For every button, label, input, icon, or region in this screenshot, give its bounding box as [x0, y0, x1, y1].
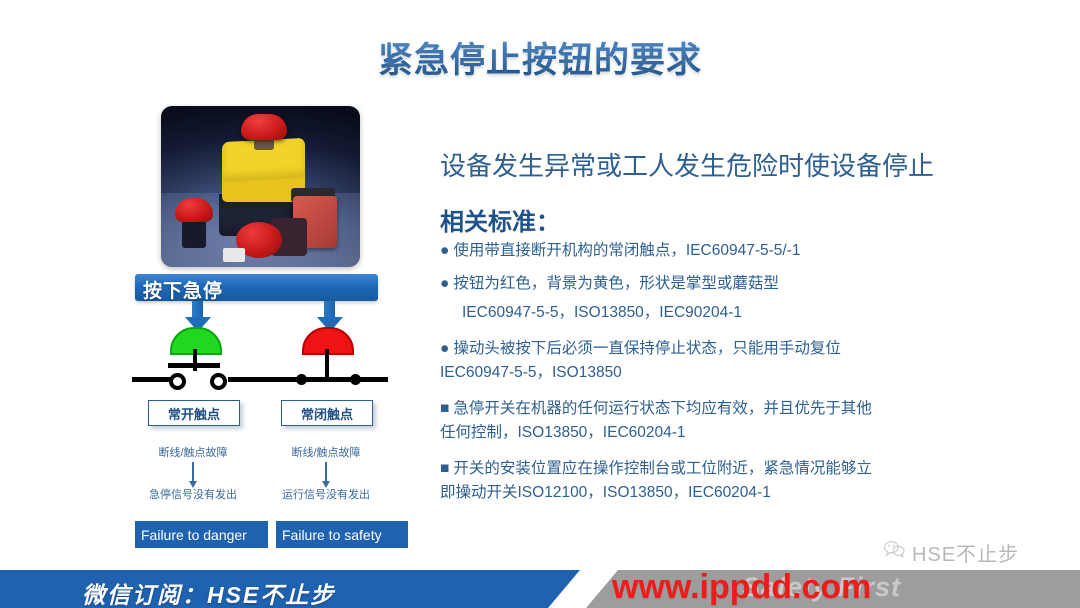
- bullet-item: ●操动头被按下后必须一直保持停止状态，只能用手动复位: [440, 338, 1060, 360]
- bullet-item: ●按钮为红色，背景为黄色，形状是掌型或蘑菇型: [440, 273, 1060, 295]
- nc-contact-stem: [325, 349, 329, 377]
- bullet-marker: ■: [440, 398, 449, 420]
- press-estop-banner: 按下急停: [135, 274, 378, 301]
- bullet-marker: ●: [440, 240, 449, 262]
- bullet-marker: ●: [440, 273, 449, 295]
- nc-contact-node-left-icon: [296, 374, 307, 385]
- wechat-logo-icon: [884, 540, 906, 558]
- small-button-body: [182, 218, 206, 248]
- slide-canvas: 紧急停止按钮的要求 紧急停止按钮的要求 按下急停 常开触点: [0, 0, 1080, 608]
- result-suffix-1: 信号没有发出: [304, 489, 370, 501]
- contact-type-box-1: 常闭触点: [281, 400, 373, 426]
- bullet-continuation: 任何控制，ISO13850，IEC60204-1: [440, 422, 1060, 444]
- page-title: 紧急停止按钮的要求: [0, 32, 1080, 83]
- bullet-marker: ●: [440, 338, 449, 360]
- emergency-stop-photo: [161, 106, 360, 267]
- no-contact-node-right-icon: [210, 373, 227, 390]
- bullet-continuation: IEC60947-5-5，ISO13850，IEC90204-1: [462, 302, 1060, 324]
- bullet-continuation: 即操动开关ISO12100，ISO13850，IEC60204-1: [440, 482, 1060, 504]
- small-button-cap-icon: [175, 198, 213, 222]
- result-prefix-1: 运行: [282, 489, 304, 501]
- bullet-text: 操动头被按下后必须一直保持停止状态，只能用手动复位: [453, 340, 841, 357]
- footer-blue-bar: 微信订阅：HSE不止步: [0, 570, 580, 608]
- press-estop-banner-label: 按下急停: [143, 276, 223, 303]
- fault-text-0: 断线/触点故障: [146, 444, 240, 460]
- bullet-continuation: IEC60947-5-5，ISO13850: [440, 362, 1060, 384]
- result-prefix-0: 急停: [149, 489, 171, 501]
- bullet-item: ■开关的安装位置应在操作控制台或工位附近，紧急情况能够立: [440, 458, 1060, 480]
- standards-subhead: 相关标准：: [440, 202, 560, 237]
- down-arrow-0-icon: [192, 462, 194, 482]
- bullet-item: ■急停开关在机器的任何运行状态下均应有效，并且优先于其他: [440, 398, 1060, 420]
- bullet-marker: ■: [440, 458, 449, 480]
- result-text-1: 运行信号没有发出: [271, 486, 381, 502]
- mushroom-button-icon: [241, 114, 287, 140]
- bullet-text: 按钮为红色，背景为黄色，形状是掌型或蘑菇型: [453, 275, 779, 292]
- standards-bullet-list: ●使用带直接断开机构的常闭触点，IEC60947-5-5/-1 ●按钮为红色，背…: [440, 240, 1060, 515]
- wechat-watermark-text: HSE不止步: [912, 538, 1019, 567]
- contact-type-label-0: 常开触点: [168, 404, 220, 423]
- no-contact-node-left-icon: [169, 373, 186, 390]
- label-tag: [223, 248, 245, 262]
- result-text-0: 急停信号没有发出: [138, 486, 248, 502]
- contact-type-box-0: 常开触点: [148, 400, 240, 426]
- outcome-box-1[interactable]: Failure to safety: [276, 521, 408, 548]
- outcome-label-1: Failure to safety: [282, 527, 382, 543]
- contact-type-label-1: 常闭触点: [301, 404, 353, 423]
- bullet-text: 急停开关在机器的任何运行状态下均应有效，并且优先于其他: [453, 400, 872, 417]
- outcome-label-0: Failure to danger: [141, 527, 247, 543]
- fault-text-1: 断线/触点故障: [279, 444, 373, 460]
- bullet-item: ●使用带直接断开机构的常闭触点，IEC60947-5-5/-1: [440, 240, 1060, 262]
- no-contact-wire-right: [228, 377, 266, 382]
- bullet-text: 使用带直接断开机构的常闭触点，IEC60947-5-5/-1: [453, 242, 800, 259]
- url-watermark: www.ippdd.com: [612, 568, 871, 607]
- subscribe-label: 微信订阅：HSE不止步: [82, 576, 335, 608]
- no-contact-actuator-bar: [168, 363, 220, 368]
- no-contact-wire-left: [132, 377, 170, 382]
- outcome-box-0[interactable]: Failure to danger: [135, 521, 268, 548]
- nc-contact-node-right-icon: [350, 374, 361, 385]
- nc-contact-wire: [264, 377, 388, 382]
- bullet-text: 开关的安装位置应在操作控制台或工位附近，紧急情况能够立: [453, 460, 872, 477]
- result-suffix-0: 信号没有发出: [171, 489, 237, 501]
- lead-statement: 设备发生异常或工人发生危险时使设备停止: [440, 146, 1050, 183]
- down-arrow-1-icon: [325, 462, 327, 482]
